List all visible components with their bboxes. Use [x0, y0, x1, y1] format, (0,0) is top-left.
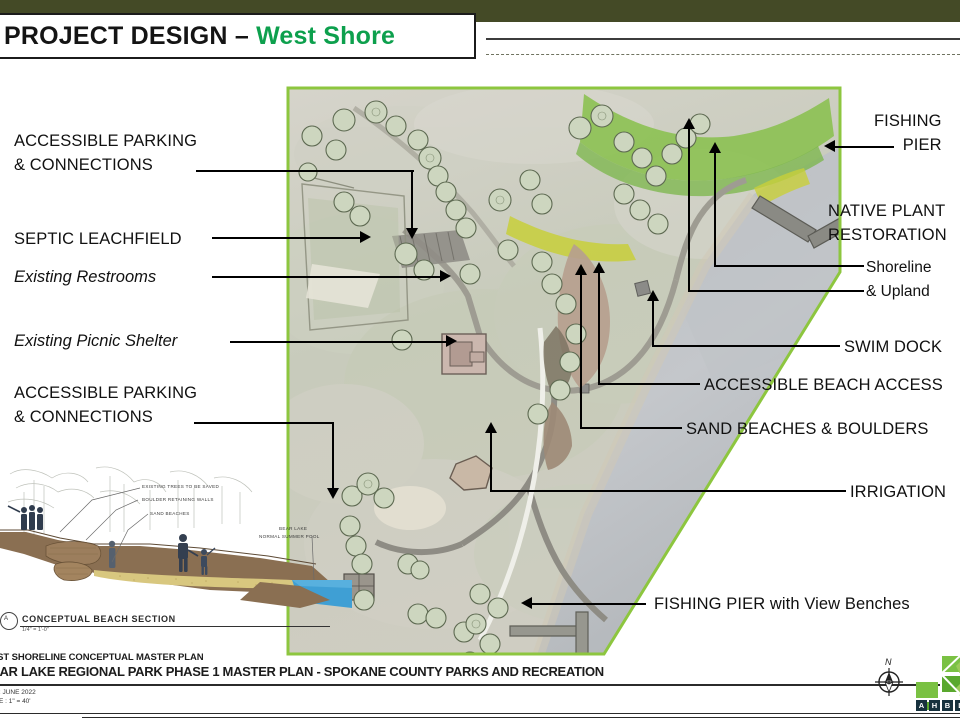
section-scale: 1/4" = 1'-0": [22, 627, 49, 633]
callout-line-1: Existing Restrooms: [14, 266, 156, 290]
callout-native-plant-shoreline: Shoreline: [866, 257, 932, 279]
firm-letter-h: H: [929, 700, 940, 711]
arrowhead-fishing-pier-north: [824, 140, 835, 152]
titleblock-date: DATE: JUNE 2022: [0, 689, 36, 698]
callout-line-2: RESTORATION: [828, 224, 947, 248]
conceptual-beach-section-inset: EXISTING TREES TO BE SAVED BOULDER RETAI…: [0, 462, 352, 642]
titleblock-title: BEAR LAKE REGIONAL PARK PHASE 1 MASTER P…: [0, 664, 604, 679]
arrowhead-restrooms: [440, 270, 451, 282]
north-arrow-icon: N: [872, 658, 906, 700]
callout-line-1: ACCESSIBLE PARKING: [14, 382, 197, 406]
titleblock-scale: SCALE : 1" = 40': [0, 698, 36, 707]
callout-line-1: SWIM DOCK: [844, 336, 942, 360]
section-caption-rule: [20, 626, 330, 627]
callout-line-4: & Upland: [866, 281, 930, 303]
callout-fishing-pier-north: FISHING PIER: [874, 110, 942, 158]
section-label-boulder-walls: BOULDER RETAINING WALLS: [142, 497, 214, 502]
leader-parking-north-v: [411, 170, 413, 230]
callout-line-3: Shoreline: [866, 257, 932, 279]
firm-letter-a: A: [916, 700, 927, 711]
leader-swim-dock-v: [652, 300, 654, 347]
titleblock-meta: DATE: JUNE 2022 SCALE : 1" = 40': [0, 689, 36, 707]
page-title-box: PROJECT DESIGN – West Shore: [0, 13, 476, 59]
section-label-summer-pool: NORMAL SUMMER POOL: [259, 534, 320, 539]
callout-line-1: FISHING: [874, 110, 942, 134]
section-caption: CONCEPTUAL BEACH SECTION: [22, 614, 176, 624]
page-title-main: PROJECT DESIGN –: [4, 22, 256, 50]
callout-swim-dock: SWIM DOCK: [844, 336, 942, 360]
leader-parking-south-h: [194, 422, 334, 424]
arrowhead-upland: [683, 118, 695, 129]
leader-sand-beaches-v: [580, 274, 582, 429]
leader-shoreline-v: [714, 152, 716, 267]
callout-irrigation: IRRIGATION: [850, 481, 946, 505]
arrowhead-shoreline: [709, 142, 721, 153]
callout-line-1: IRRIGATION: [850, 481, 946, 505]
slide-canvas: PROJECT DESIGN – West Shore: [0, 0, 960, 720]
titleblock-rule-bottom: [82, 717, 960, 718]
header-rule-solid: [486, 38, 960, 40]
arrowhead-septic: [360, 231, 371, 243]
callout-line-1: FISHING PIER with View Benches: [654, 593, 910, 617]
section-label-existing-trees: EXISTING TREES TO BE SAVED: [142, 484, 219, 489]
leader-fishing-pier-benches-h: [530, 603, 646, 605]
leader-beach-access-h: [598, 383, 700, 385]
titleblock-rule-mid: [0, 713, 960, 714]
callout-line-1: ACCESSIBLE BEACH ACCESS: [704, 374, 943, 398]
arrowhead-swim-dock: [647, 290, 659, 301]
leader-upland-h: [688, 290, 864, 292]
leader-shoreline-h: [714, 265, 864, 267]
leader-beach-access-v: [598, 272, 600, 385]
callout-sand-beaches-boulders: SAND BEACHES & BOULDERS: [686, 418, 929, 442]
leader-parking-north-h: [196, 170, 414, 172]
leader-swim-dock-h: [652, 345, 840, 347]
page-title-accent: West Shore: [256, 22, 395, 50]
callout-fishing-pier-benches: FISHING PIER with View Benches: [654, 593, 910, 617]
callout-line-1: Existing Picnic Shelter: [14, 330, 177, 354]
titleblock: WEST SHORELINE CONCEPTUAL MASTER PLAN BE…: [0, 644, 960, 720]
callout-native-plant-upland: & Upland: [866, 281, 930, 303]
callout-line-1: SEPTIC LEACHFIELD: [14, 228, 182, 252]
arrowhead-picnic: [446, 335, 457, 347]
page-title: PROJECT DESIGN – West Shore: [4, 22, 395, 51]
callout-line-2: & CONNECTIONS: [14, 406, 197, 430]
callout-existing-picnic-shelter: Existing Picnic Shelter: [14, 330, 177, 354]
firm-letter-l: L: [955, 700, 960, 711]
titleblock-subtitle: WEST SHORELINE CONCEPTUAL MASTER PLAN: [0, 652, 204, 663]
firm-initials: A H B L: [916, 700, 960, 711]
header-rule-dashed: [486, 54, 960, 55]
arrowhead-parking-north: [406, 228, 418, 239]
leader-sand-beaches-h: [580, 427, 682, 429]
callout-existing-restrooms: Existing Restrooms: [14, 266, 156, 290]
arrowhead-fishing-pier-benches: [521, 597, 532, 609]
north-letter: N: [885, 657, 892, 667]
leader-irrigation-h: [490, 490, 846, 492]
callout-native-plant-restoration: NATIVE PLANT RESTORATION: [828, 200, 947, 248]
callout-accessible-beach-access: ACCESSIBLE BEACH ACCESS: [704, 374, 943, 398]
section-key-letter: A: [4, 616, 8, 622]
callout-line-1: NATIVE PLANT: [828, 200, 947, 224]
leader-upland-v: [688, 128, 690, 292]
leader-fishing-pier-north-h: [834, 146, 894, 148]
leader-irrigation-v: [490, 432, 492, 492]
callout-line-1: SAND BEACHES & BOULDERS: [686, 418, 929, 442]
section-label-bear-lake: BEAR LAKE: [279, 526, 307, 531]
arrowhead-irrigation: [485, 422, 497, 433]
leader-septic-h: [212, 237, 362, 239]
section-label-sand-beaches: SAND BEACHES: [150, 511, 190, 516]
callout-line-1: ACCESSIBLE PARKING: [14, 130, 197, 154]
titleblock-rule-top: [0, 684, 960, 686]
section-key-marker: A: [0, 612, 18, 630]
callout-line-2: & CONNECTIONS: [14, 154, 197, 178]
leader-restrooms-h: [212, 276, 442, 278]
callout-septic-leachfield: SEPTIC LEACHFIELD: [14, 228, 182, 252]
firm-letter-b: B: [942, 700, 953, 711]
arrowhead-sand-beaches: [575, 264, 587, 275]
callout-accessible-parking-south: ACCESSIBLE PARKING & CONNECTIONS: [14, 382, 197, 430]
arrowhead-beach-access: [593, 262, 605, 273]
leader-picnic-h: [230, 341, 448, 343]
callout-accessible-parking-north: ACCESSIBLE PARKING & CONNECTIONS: [14, 130, 197, 178]
